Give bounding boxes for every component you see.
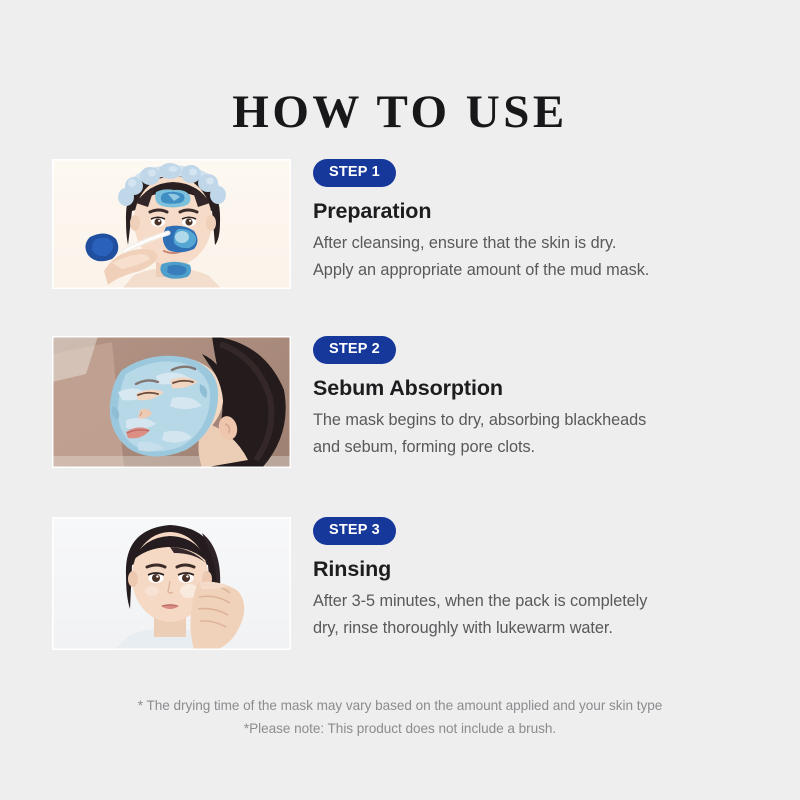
step-2-badge: STEP 2 (313, 336, 396, 364)
step-3-description-line-2: dry, rinse thoroughly with lukewarm wate… (313, 615, 753, 641)
step-1-description-line-2: Apply an appropriate amount of the mud m… (313, 257, 753, 283)
step-2-heading: Sebum Absorption (313, 376, 753, 402)
step-3-description-line-1: After 3-5 minutes, when the pack is comp… (313, 588, 753, 614)
step-2-description: The mask begins to dry, absorbing blackh… (313, 407, 753, 460)
step-row-2: STEP 2 Sebum Absorption The mask begins … (52, 336, 752, 466)
step-3-photo (52, 517, 291, 650)
step-row-1: STEP 1 Preparation After cleansing, ensu… (52, 159, 752, 289)
step-3-badge: STEP 3 (313, 517, 396, 545)
step-3-body: STEP 3 Rinsing After 3-5 minutes, when t… (313, 517, 753, 641)
footnotes: * The drying time of the mask may vary b… (0, 694, 800, 741)
step-1-description-line-1: After cleansing, ensure that the skin is… (313, 230, 753, 256)
step-2-body: STEP 2 Sebum Absorption The mask begins … (313, 336, 753, 460)
step-3-heading: Rinsing (313, 557, 753, 583)
step-2-description-line-1: The mask begins to dry, absorbing blackh… (313, 407, 753, 433)
footnote-drying-time: * The drying time of the mask may vary b… (0, 694, 800, 717)
step-1-body: STEP 1 Preparation After cleansing, ensu… (313, 159, 753, 283)
footnote-no-brush-included: *Please note: This product does not incl… (0, 717, 800, 740)
step-3-description: After 3-5 minutes, when the pack is comp… (313, 588, 753, 641)
step-1-heading: Preparation (313, 199, 753, 225)
step-1-description: After cleansing, ensure that the skin is… (313, 230, 753, 283)
page-title: HOW TO USE (0, 88, 800, 137)
step-row-3: STEP 3 Rinsing After 3-5 minutes, when t… (52, 517, 752, 647)
step-2-description-line-2: and sebum, forming pore clots. (313, 434, 753, 460)
step-1-badge: STEP 1 (313, 159, 396, 187)
step-2-photo (52, 336, 291, 468)
step-1-photo (52, 159, 291, 289)
how-to-use-page: HOW TO USE (0, 0, 800, 800)
